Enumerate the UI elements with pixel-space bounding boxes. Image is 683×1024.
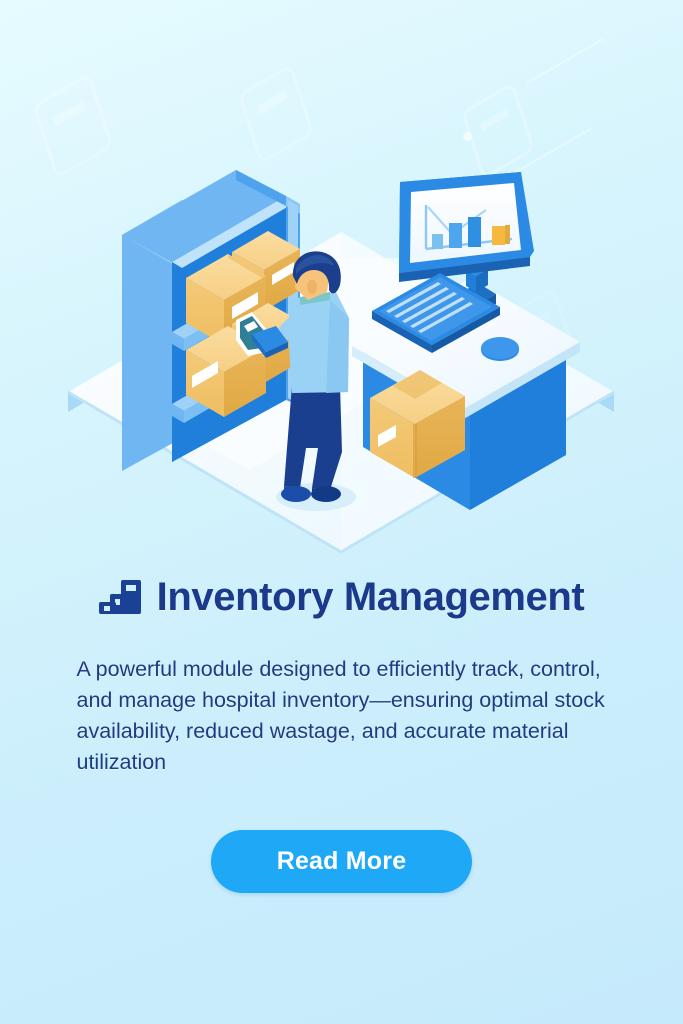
read-more-button[interactable]: Read More bbox=[211, 830, 473, 893]
desktop-monitor bbox=[398, 172, 534, 282]
hero-illustration bbox=[0, 0, 683, 560]
mouse bbox=[481, 337, 519, 361]
title-row: Inventory Management bbox=[0, 575, 683, 620]
isometric-scene-svg bbox=[0, 0, 683, 560]
inventory-boxes-icon bbox=[99, 578, 143, 618]
card-description: A powerful module designed to efficientl… bbox=[77, 654, 607, 778]
page-title: Inventory Management bbox=[157, 575, 585, 620]
card-content: Inventory Management A powerful module d… bbox=[0, 575, 683, 893]
cta-wrap: Read More bbox=[0, 830, 683, 893]
